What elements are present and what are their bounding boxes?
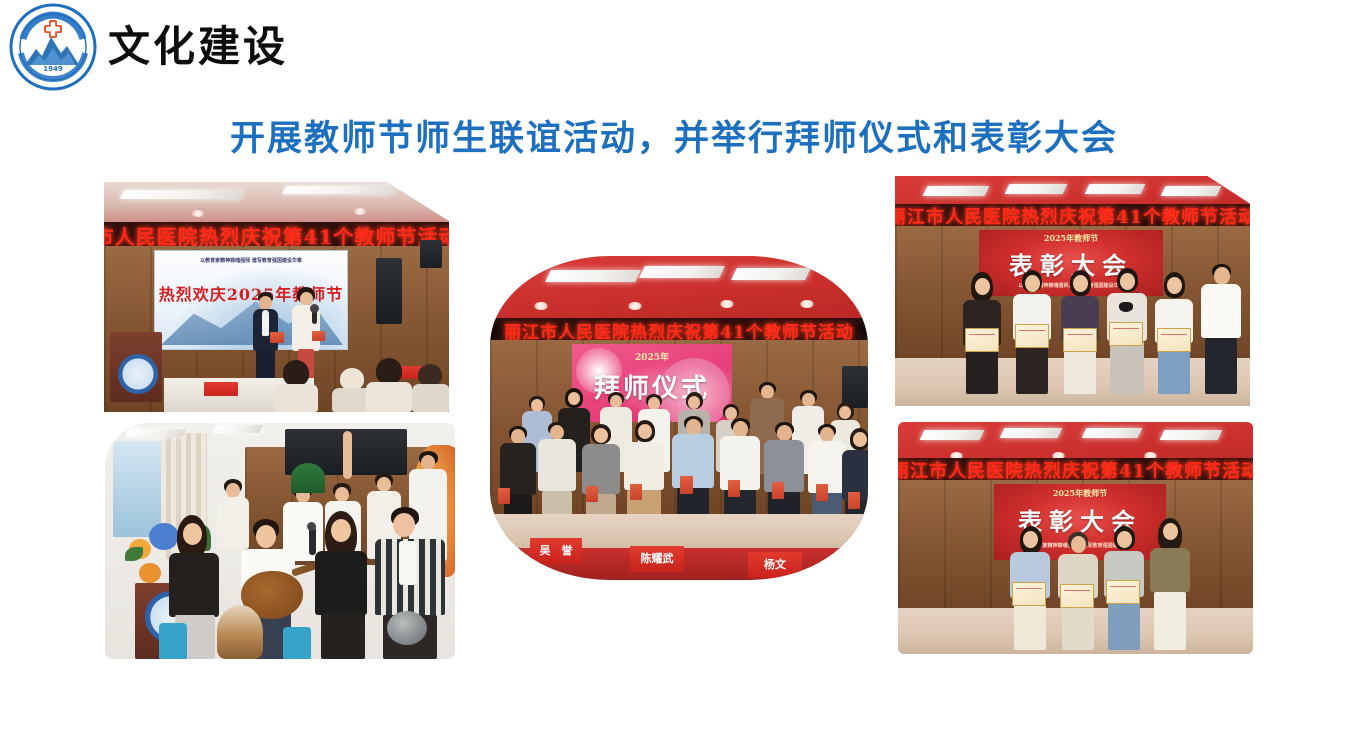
downlight [628, 302, 642, 310]
podium-hospital-seal [118, 354, 158, 394]
ceiling-light [639, 266, 725, 278]
awardee [1056, 532, 1100, 650]
singer-female-right [313, 511, 373, 659]
hospital-logo: 1949 [9, 3, 97, 91]
downlight [192, 210, 204, 217]
logo-year-text: 1949 [43, 65, 63, 73]
stool [159, 623, 187, 659]
photo-award-ceremony-four[interactable]: 丽江市人民医院热烈庆祝第41个教师节活动 2025年教师节 表彰大会 以教育家精… [898, 422, 1253, 654]
stage-led-banner: 丽江市人民医院热烈庆祝第41个教师节活动 [895, 204, 1250, 228]
photo-award-ceremony-five[interactable]: 丽江市人民医院热烈庆祝第41个教师节活动 2025年教师节 表彰大会 以教育家精… [895, 176, 1250, 406]
hand-fan-decor [291, 463, 325, 493]
audience-member [274, 360, 318, 412]
ceiling-light [920, 430, 985, 440]
photo-scene: 市人民医院热烈庆祝第41个教师节活动 以教育家精神铸魂强师 谱写教育强国建设华章… [104, 182, 449, 412]
photo-scene: 丽江市人民医院热烈庆祝第41个教师节活动 2025年 拜师仪式 [490, 256, 868, 580]
shirt-cat-print [1119, 302, 1133, 312]
photo-scene [105, 423, 455, 659]
nameplate: 吴 誉 [530, 538, 582, 564]
djembe-drum [217, 605, 263, 659]
ceiling-light [120, 190, 244, 199]
projector [420, 240, 442, 268]
awardee [961, 272, 1003, 394]
microphone [309, 527, 316, 555]
photo-student-band-performance[interactable] [105, 423, 455, 659]
awardee [1102, 526, 1146, 650]
ceiling-light [1082, 428, 1143, 438]
presenting-leader [1148, 518, 1192, 650]
photo-opening-ceremony-hosts[interactable]: 市人民医院热烈庆祝第41个教师节活动 以教育家精神铸魂强师 谱写教育强国建设华章… [104, 182, 449, 412]
ceiling-light [1000, 428, 1063, 438]
photo-scene: 丽江市人民医院热烈庆祝第41个教师节活动 2025年教师节 表彰大会 以教育家精… [895, 176, 1250, 406]
audience-member [412, 364, 449, 412]
awardee [1153, 272, 1195, 394]
stage-led-banner: 丽江市人民医院热烈庆祝第41个教师节活动 [490, 318, 868, 342]
stage-led-banner: 丽江市人民医院热烈庆祝第41个教师节活动 [898, 458, 1253, 482]
downlight [354, 208, 366, 215]
slide-canvas: 1949 文化建设 开展教师节师生联谊活动，并举行拜师仪式和表彰大会 市人民医院… [0, 0, 1348, 753]
downlight [800, 300, 814, 308]
handpan-drum [387, 611, 427, 645]
side-monitor [376, 258, 402, 324]
photo-scene: 丽江市人民医院热烈庆祝第41个教师节活动 2025年教师节 表彰大会 以教育家精… [898, 422, 1253, 654]
awardee [1105, 268, 1149, 394]
ceiling-light [213, 425, 263, 433]
ceiling-light [731, 268, 811, 280]
table-nameplate [204, 382, 238, 396]
presenting-leader [1199, 264, 1243, 394]
page-title: 文化建设 [108, 19, 288, 75]
awardee [1008, 526, 1052, 650]
ceiling-light [923, 186, 990, 196]
downlight [534, 302, 548, 310]
stage-led-banner: 市人民医院热烈庆祝第41个教师节活动 [104, 222, 449, 248]
slide-header: 1949 文化建设 [0, 0, 1348, 92]
ceiling-light [125, 429, 187, 437]
nameplate: 陈耀武 [630, 546, 684, 572]
nameplate: 杨文 [748, 552, 802, 578]
stool [283, 627, 311, 659]
audience-member [366, 358, 412, 412]
ceiling-light [282, 186, 396, 194]
ceiling-light [545, 270, 641, 282]
ceiling-light [1005, 184, 1068, 194]
ceiling-light [1160, 430, 1223, 440]
slide-subject-title: 开展教师节师生联谊活动，并举行拜师仪式和表彰大会 [0, 110, 1348, 161]
ceiling-light [1161, 186, 1222, 196]
downlight [720, 300, 734, 308]
ceiling-light [1085, 184, 1146, 194]
hospital-logo-icon: 1949 [9, 3, 97, 91]
awardee [1011, 270, 1053, 394]
awardee [1059, 270, 1101, 394]
photo-master-apprentice-group[interactable]: 丽江市人民医院热烈庆祝第41个教师节活动 2025年 拜师仪式 [490, 256, 868, 580]
